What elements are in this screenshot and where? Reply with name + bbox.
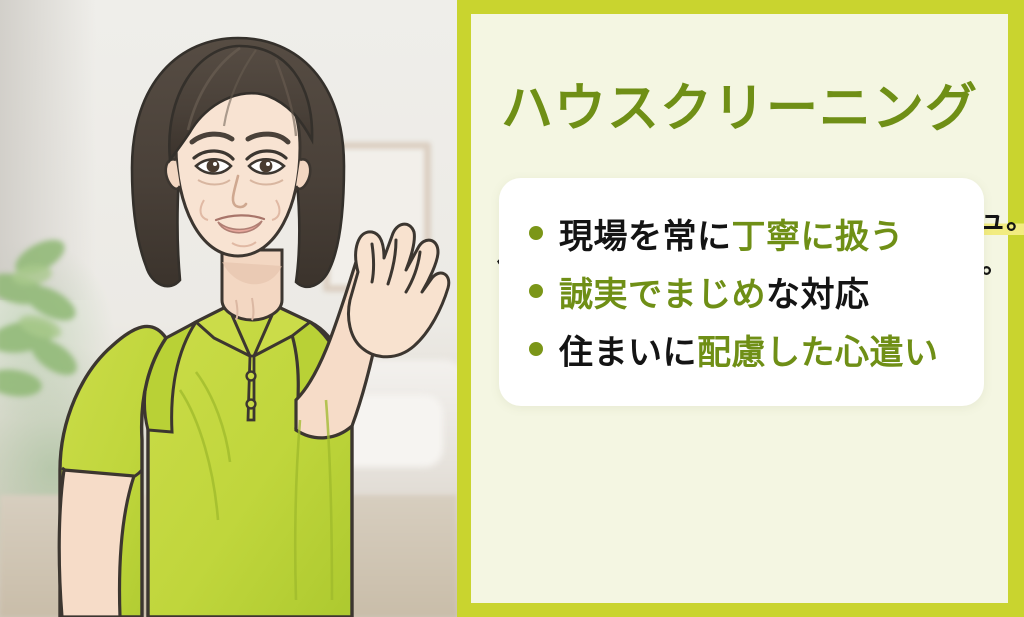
bullet-3-accent: 配慮した心遣い <box>697 325 939 374</box>
bullet-1-accent: 丁寧に扱う <box>732 209 905 258</box>
bullet-dot-icon <box>529 226 543 240</box>
bullet-dot-icon <box>529 342 543 356</box>
subtitle-line-2-tail: 。 <box>981 249 1008 279</box>
bullet-3-plain: 住まいに <box>559 325 697 374</box>
bullet-dot-icon <box>529 284 543 298</box>
illustration-pane <box>0 0 457 617</box>
bullet-2-tail: な対応 <box>766 267 870 316</box>
content-inner: ハウスクリーニング プロの仕事で、住まいも心もリフレッシュ。 任せて安心、丁寧な… <box>471 14 1008 603</box>
benefits-card: 現場を常に丁寧に扱う 誠実でまじめな対応 住まいに配慮した心遣い <box>499 178 984 406</box>
list-item: 現場を常に丁寧に扱う <box>529 204 970 262</box>
bullet-2-accent: 誠実でまじめ <box>559 267 766 316</box>
promo-banner: ハウスクリーニング プロの仕事で、住まいも心もリフレッシュ。 任せて安心、丁寧な… <box>0 0 1024 617</box>
list-item: 住まいに配慮した心遣い <box>529 320 970 378</box>
woman-illustration <box>0 0 457 617</box>
page-title: ハウスクリーニング <box>471 66 1008 141</box>
list-item: 誠実でまじめな対応 <box>529 262 970 320</box>
bullet-1-plain: 現場を常に <box>559 209 732 258</box>
content-pane: ハウスクリーニング プロの仕事で、住まいも心もリフレッシュ。 任せて安心、丁寧な… <box>457 0 1024 617</box>
benefits-list: 現場を常に丁寧に扱う 誠実でまじめな対応 住まいに配慮した心遣い <box>529 204 970 378</box>
